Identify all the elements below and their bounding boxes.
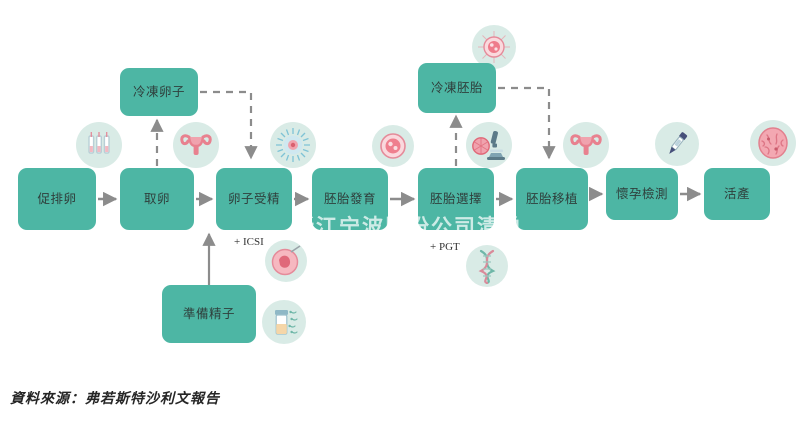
embryo-cell-icon bbox=[372, 125, 414, 167]
node-embryo-transfer[interactable]: 胚胎移植 bbox=[516, 168, 588, 230]
node-ovarian-stimulation[interactable]: 促排卵 bbox=[18, 168, 96, 230]
sperm-sample-icon bbox=[262, 300, 306, 344]
dna-helix-icon bbox=[466, 245, 508, 287]
node-live-birth[interactable]: 活產 bbox=[704, 168, 770, 220]
node-label: 準備精子 bbox=[183, 307, 235, 322]
node-label: 胚胎發育 bbox=[324, 192, 376, 207]
microscope-icon bbox=[466, 122, 512, 168]
node-egg-retrieval[interactable]: 取卵 bbox=[120, 168, 194, 230]
newborn-baby-icon bbox=[750, 120, 796, 166]
node-label: 冷凍卵子 bbox=[133, 85, 185, 100]
node-embryo-selection[interactable]: 胚胎選擇 bbox=[418, 168, 494, 230]
node-frozen-embryos[interactable]: 冷凍胚胎 bbox=[418, 63, 496, 113]
node-embryo-development[interactable]: 胚胎發育 bbox=[312, 168, 388, 230]
pregnancy-test-icon bbox=[655, 122, 699, 166]
source-note: 資料來源：弗若斯特沙利文報告 bbox=[10, 388, 220, 408]
node-label: 卵子受精 bbox=[228, 192, 280, 207]
annotation-icsi: + ICSI bbox=[234, 236, 264, 248]
node-sperm-preparation[interactable]: 準備精子 bbox=[162, 285, 256, 343]
uterus-transfer-icon bbox=[563, 122, 609, 168]
node-label: 活產 bbox=[724, 187, 750, 202]
node-label: 促排卵 bbox=[37, 192, 76, 207]
node-fertilization[interactable]: 卵子受精 bbox=[216, 168, 292, 230]
uterus-icon bbox=[173, 122, 219, 168]
node-label: 懷孕檢測 bbox=[616, 187, 668, 202]
node-pregnancy-test[interactable]: 懷孕檢測 bbox=[606, 168, 678, 220]
node-label: 取卵 bbox=[144, 192, 170, 207]
fertilized-egg-icon bbox=[265, 240, 307, 282]
annotation-pgt: + PGT bbox=[430, 241, 460, 253]
node-label: 胚胎移植 bbox=[526, 192, 578, 207]
node-frozen-eggs[interactable]: 冷凍卵子 bbox=[120, 68, 198, 116]
ovum-egg-icon bbox=[270, 122, 316, 168]
node-label: 胚胎選擇 bbox=[430, 192, 482, 207]
syringe-vials-icon bbox=[76, 122, 122, 168]
diagram-canvas: 促排卵 取卵 卵子受精 胚胎發育 胚胎選擇 胚胎移植 懷孕檢測 活產 冷凍卵子 … bbox=[0, 0, 807, 426]
node-label: 冷凍胚胎 bbox=[431, 81, 483, 96]
